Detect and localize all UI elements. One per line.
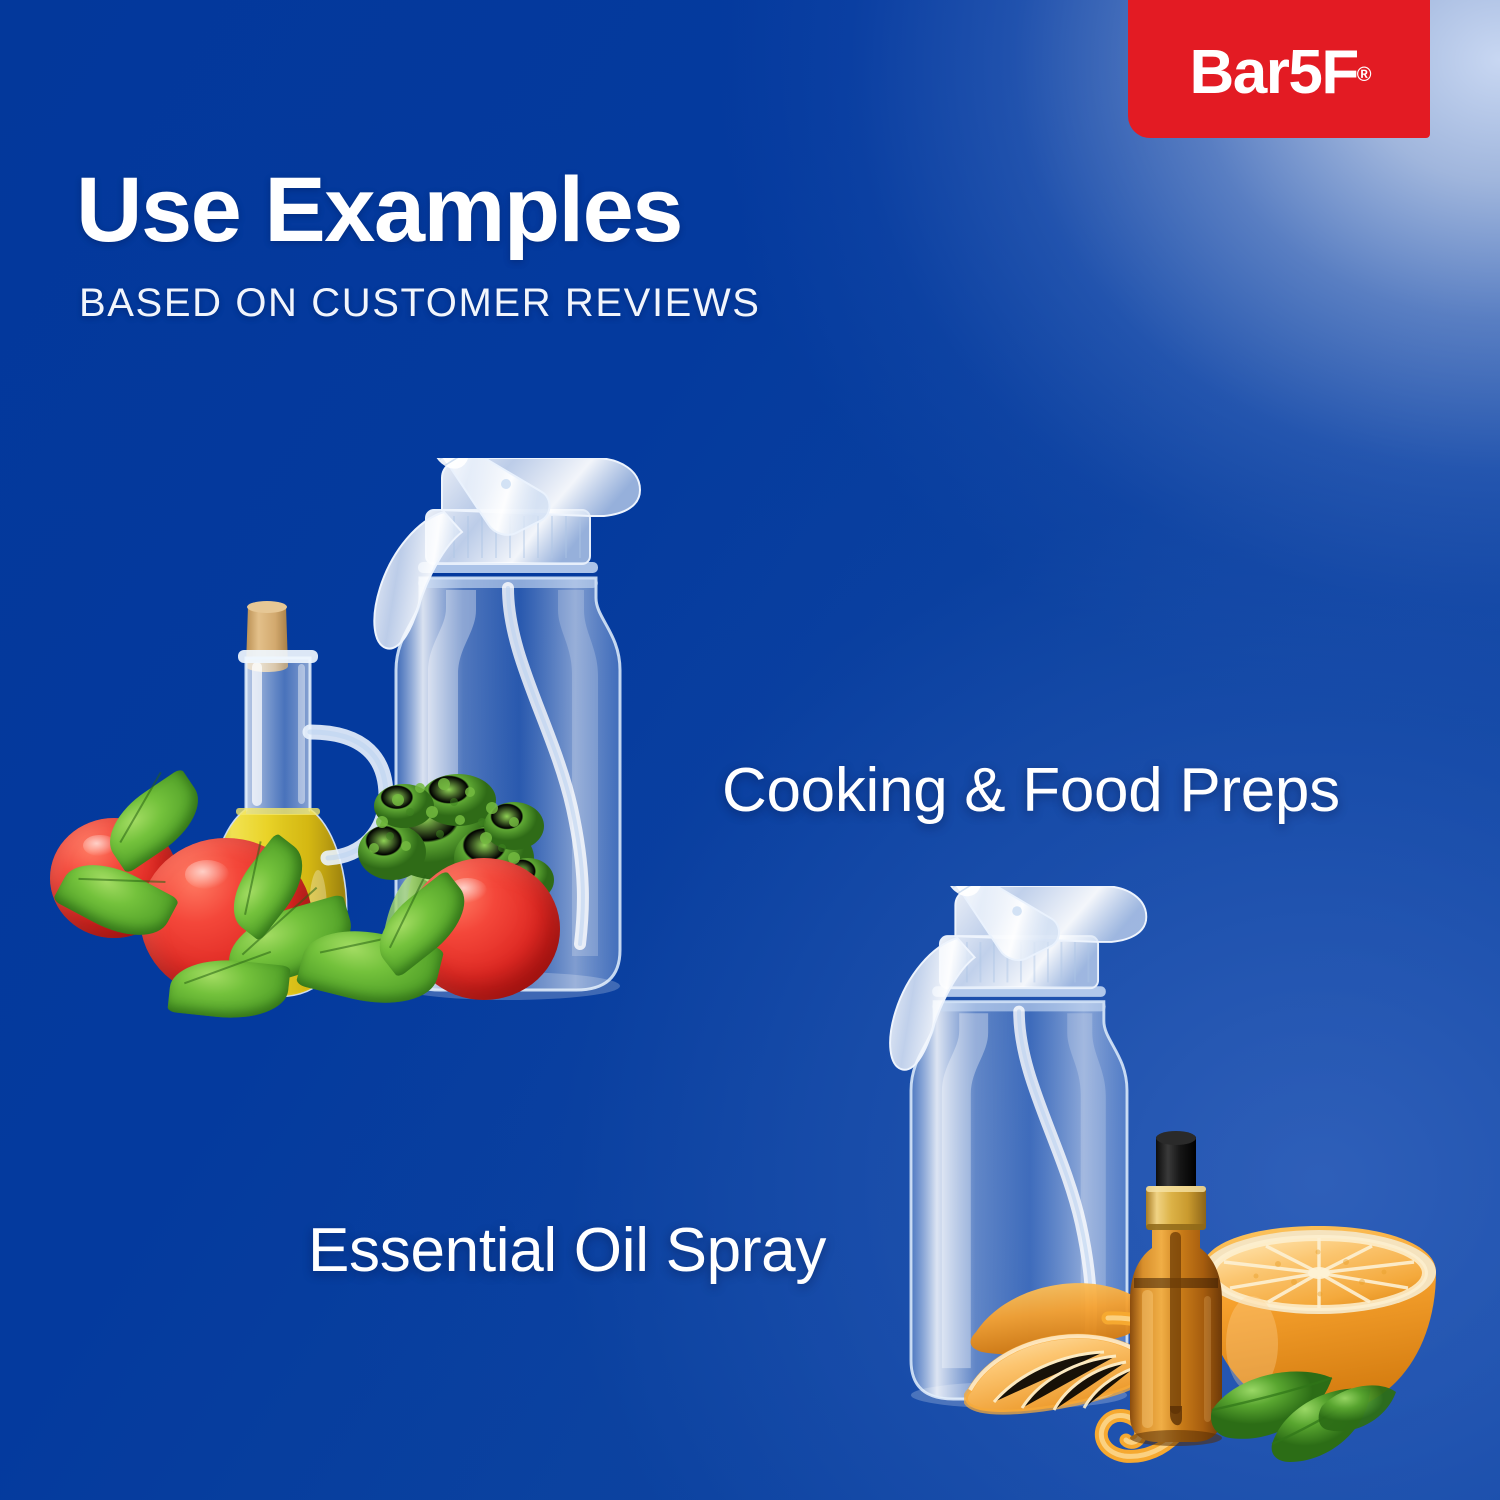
brand-logo-name: Bar5F [1190,38,1358,107]
page-title: Use Examples [76,164,682,256]
scene-cooking [40,440,740,1040]
registered-trademark-icon: ® [1357,64,1372,86]
scene-essential-oil [868,880,1468,1460]
brand-logo-badge: Bar5F® [1128,0,1430,138]
caption-essential-oil: Essential Oil Spray [308,1220,826,1282]
caption-cooking: Cooking & Food Preps [722,760,1340,822]
brand-logo-text: Bar5F® [1190,42,1373,104]
promo-image: Bar5F® Use Examples BASED ON CUSTOMER RE… [0,0,1500,1500]
page-subtitle: BASED ON CUSTOMER REVIEWS [79,283,761,323]
mint-leaves [1208,1362,1398,1472]
